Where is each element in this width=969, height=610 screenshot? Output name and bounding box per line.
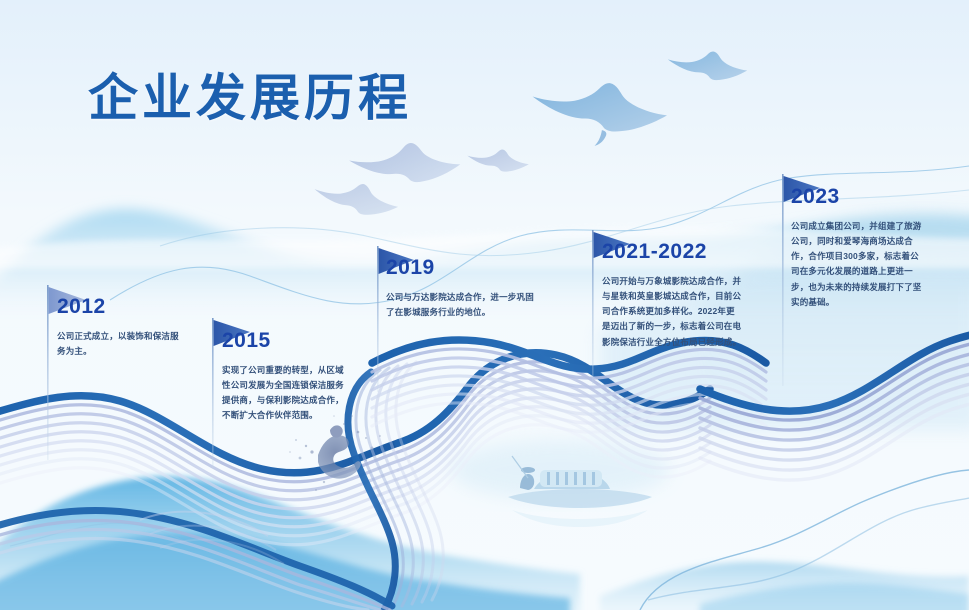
- timeline-entry-2019[interactable]: 2019 公司与万达影院达成合作，进一步巩固了在影城服务行业的地位。: [386, 257, 536, 320]
- timeline-year: 2021-2022: [602, 241, 742, 262]
- timeline-description: 实现了公司重要的转型，从区域性公司发展为全国连锁保洁服务提供商，与保利影院达成合…: [222, 363, 346, 424]
- timeline-entry-2023[interactable]: 2023 公司成立集团公司，并组建了旅游公司，同时和爱琴海商场达成合作，合作项目…: [791, 186, 923, 310]
- timeline-year: 2023: [791, 186, 923, 207]
- page-title: 企业发展历程: [88, 58, 412, 130]
- timeline-description: 公司与万达影院达成合作，进一步巩固了在影城服务行业的地位。: [386, 290, 536, 320]
- timeline-description: 公司成立集团公司，并组建了旅游公司，同时和爱琴海商场达成合作，合作项目300多家…: [791, 219, 923, 310]
- timeline-description: 公司开始与万象城影院达成合作，并与星轶和英皇影城达成合作，目前公司合作系统更加多…: [602, 274, 742, 350]
- timeline-year: 2015: [222, 330, 346, 351]
- timeline-entry-2015[interactable]: 2015 实现了公司重要的转型，从区域性公司发展为全国连锁保洁服务提供商，与保利…: [222, 330, 346, 424]
- timeline-description: 公司正式成立，以装饰和保洁服务为主。: [57, 329, 185, 359]
- timeline-entry-2012[interactable]: 2012 公司正式成立，以装饰和保洁服务为主。: [57, 296, 185, 359]
- timeline-year: 2019: [386, 257, 536, 278]
- poster-canvas: 企业发展历程 2012 公司正式成立，以装饰和保洁服务为主。 2015 实现了公…: [0, 0, 969, 610]
- timeline-entry-2021-2022[interactable]: 2021-2022 公司开始与万象城影院达成合作，并与星轶和英皇影城达成合作，目…: [602, 241, 742, 350]
- timeline-year: 2012: [57, 296, 185, 317]
